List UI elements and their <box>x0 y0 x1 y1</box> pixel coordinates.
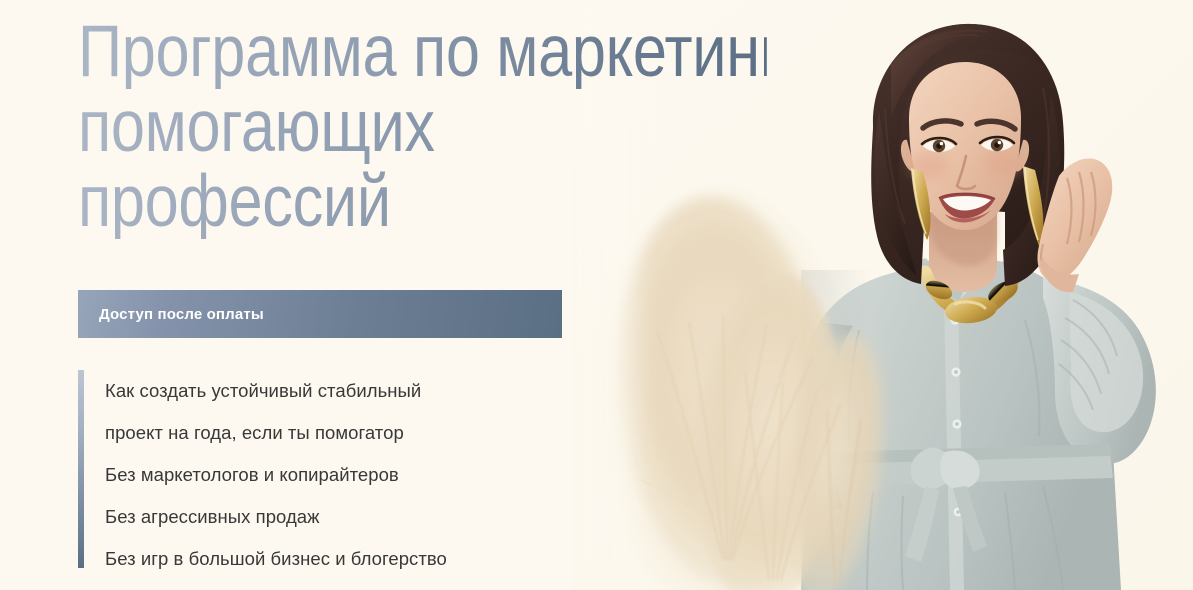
access-bar-label: Доступ после оплаты <box>78 306 264 323</box>
list-item: Без игр в большой бизнес и блогерство <box>105 538 447 580</box>
hero-copy: Программа по маркетингупомогающихпрофесс… <box>78 0 898 590</box>
necklace <box>923 272 1021 326</box>
list-item: проект на года, если ты помогатор <box>105 412 447 454</box>
mouth <box>939 194 995 223</box>
benefits-block: Как создать устойчивый стабильный проект… <box>78 370 638 580</box>
headline-line-1: Программа по маркетингу <box>78 14 767 89</box>
list-item: Без маркетологов и копирайтеров <box>105 454 447 496</box>
hero-section: Программа по маркетингупомогающихпрофесс… <box>0 0 1193 590</box>
headline-line-2: помогающих <box>78 89 767 164</box>
headline-line-3: профессий <box>78 164 767 239</box>
page-title: Программа по маркетингупомогающихпрофесс… <box>78 14 898 239</box>
raised-hand <box>1037 158 1112 292</box>
access-after-payment-button[interactable]: Доступ после оплаты <box>78 290 562 338</box>
earrings <box>911 166 1043 246</box>
list-item: Без агрессивных продаж <box>105 496 447 538</box>
list-item: Как создать устойчивый стабильный <box>105 370 447 412</box>
benefits-list: Как создать устойчивый стабильный проект… <box>84 370 447 580</box>
eyes <box>922 137 1014 152</box>
